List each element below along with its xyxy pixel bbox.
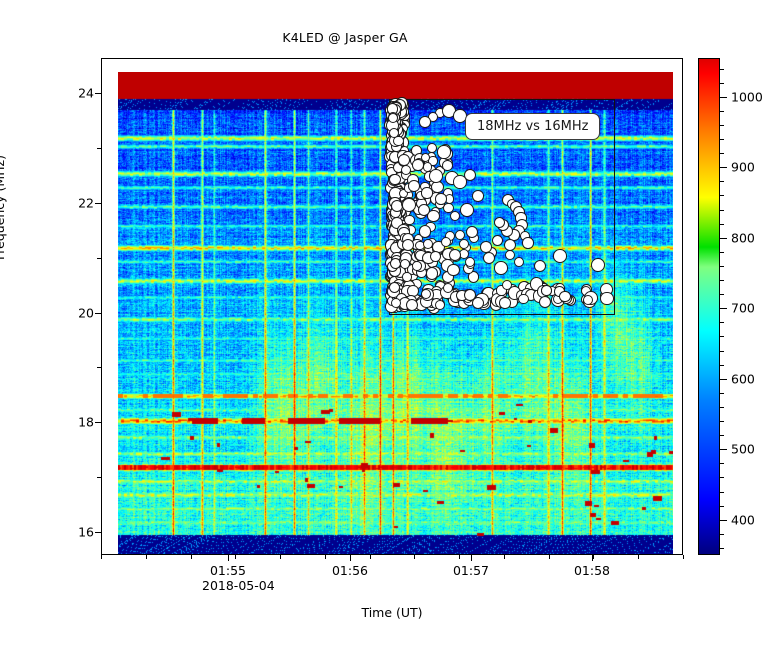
colorbar-tick-minor [720,181,724,182]
colorbar [698,58,720,555]
date-label: 2018-05-04 [202,578,275,593]
y-tick-label: 16 [54,525,94,540]
colorbar-tick-minor [720,393,724,394]
colorbar-tick-major [720,520,727,521]
colorbar-tick-label: 500 [731,442,755,457]
colorbar-tick-minor [720,492,724,493]
x-tick-minor [325,555,326,559]
spectrogram-canvas [118,72,673,555]
x-tick-minor [191,555,192,559]
x-tick-minor [459,555,460,559]
colorbar-tick-minor [720,435,724,436]
colorbar-tick-minor [720,294,724,295]
colorbar-tick-label: 1000 [731,89,763,104]
x-tick-label: 01:56 [332,563,368,578]
y-tick-label: 20 [54,305,94,320]
x-tick-label: 01:55 [210,563,246,578]
y-tick-label: 22 [54,195,94,210]
colorbar-tick-minor [720,506,724,507]
colorbar-tick-minor [720,351,724,352]
x-tick-major [471,555,472,561]
colorbar-tick-major [720,379,727,380]
colorbar-tick-label: 600 [731,371,755,386]
x-tick-minor [146,555,147,559]
colorbar-tick-minor [720,477,724,478]
x-tick-major [592,555,593,561]
page-title: K4LED @ Jasper GA [0,30,690,45]
colorbar-tick-minor [720,125,724,126]
x-tick-minor [414,555,415,559]
spectrogram-image [118,72,673,555]
colorbar-tick-minor [720,463,724,464]
x-tick-minor [235,555,236,559]
x-tick-major [228,555,229,561]
colorbar-tick-minor [720,365,724,366]
colorbar-tick-minor [720,139,724,140]
x-tick-label: 01:58 [574,563,610,578]
colorbar-tick-minor [720,83,724,84]
colorbar-tick-minor [720,69,724,70]
colorbar-tick-label: 700 [731,301,755,316]
colorbar-tick-major [720,167,727,168]
x-tick-minor [370,555,371,559]
x-tick-label: 01:57 [453,563,489,578]
colorbar-tick-minor [720,210,724,211]
x-tick-minor [593,555,594,559]
colorbar-tick-minor [720,407,724,408]
colorbar-tick-minor [720,111,724,112]
colorbar-tick-minor [720,534,724,535]
y-tick-label: 18 [54,415,94,430]
colorbar-tick-minor [720,153,724,154]
colorbar-tick-minor [720,280,724,281]
colorbar-tick-minor [720,224,724,225]
colorbar-tick-minor [720,266,724,267]
x-tick-minor [101,555,102,559]
colorbar-tick-major [720,308,727,309]
colorbar-tick-major [720,97,727,98]
colorbar-tick-minor [720,548,724,549]
figure-canvas: K4LED @ Jasper GA Frequency (MHz) 242220… [0,0,783,656]
x-tick-minor [549,555,550,559]
x-tick-minor [504,555,505,559]
x-tick-minor [683,555,684,559]
colorbar-tick-minor [720,336,724,337]
colorbar-tick-minor [720,252,724,253]
colorbar-tick-major [720,238,727,239]
colorbar-tick-major [720,449,727,450]
colorbar-tick-label: 400 [731,512,755,527]
y-axis-label: Frequency (MHz) [0,155,7,260]
colorbar-tick-label: 900 [731,160,755,175]
colorbar-tick-label: 800 [731,230,755,245]
colorbar-tick-minor [720,421,724,422]
x-axis-label: Time (UT) [101,605,683,620]
y-tick-label: 24 [54,85,94,100]
x-tick-minor [638,555,639,559]
colorbar-tick-minor [720,195,724,196]
annotation-label: 18MHz vs 16MHz [465,113,600,140]
x-tick-major [350,555,351,561]
x-tick-minor [280,555,281,559]
colorbar-tick-minor [720,322,724,323]
